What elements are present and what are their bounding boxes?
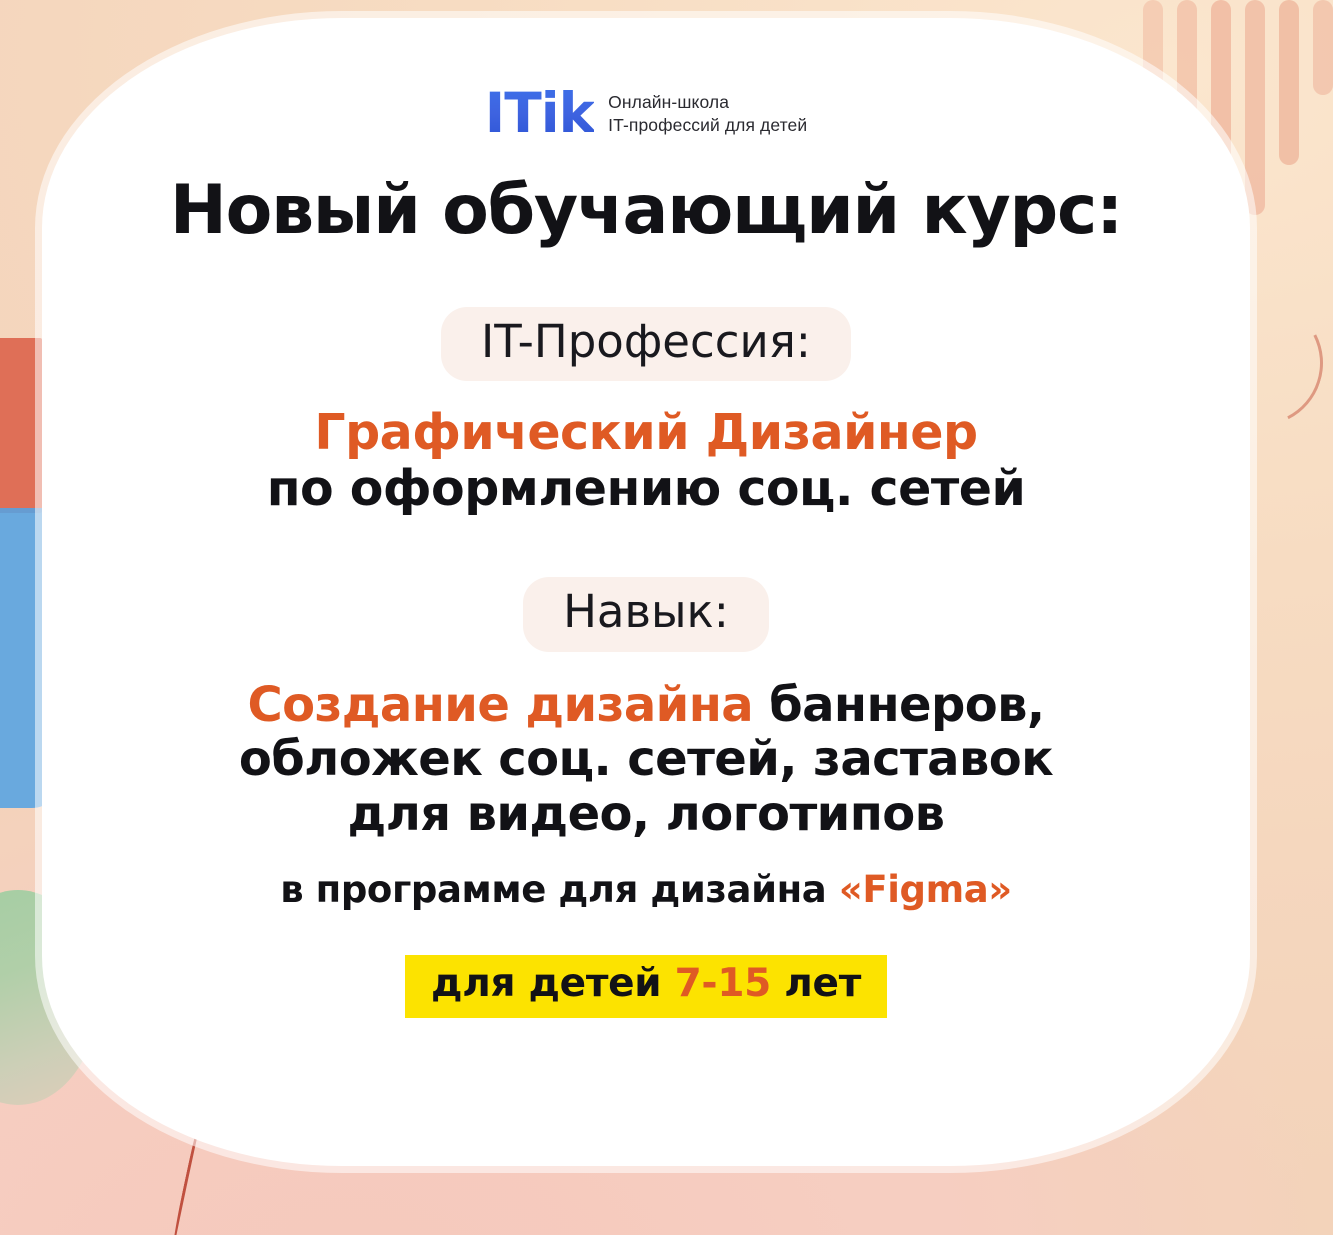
profession-title: Графический Дизайнер по оформлению соц. … — [267, 405, 1026, 517]
skill-accent: Создание дизайна — [247, 677, 753, 733]
age-badge-suffix: лет — [771, 961, 861, 1006]
waveform-bar — [1313, 0, 1333, 95]
brand-lockup: ITik Онлайн-школа IT-профессий для детей — [485, 86, 807, 141]
itik-logo: ITik — [485, 86, 594, 141]
profession-title-accent: Графический Дизайнер — [267, 405, 1026, 461]
age-badge: для детей 7-15 лет — [405, 955, 887, 1018]
skill-line-3: для видео, логотипов — [239, 787, 1053, 842]
decoration-red-block — [0, 338, 42, 513]
skill-description: Создание дизайна баннеров, обложек соц. … — [239, 678, 1053, 842]
program-name: «Figma» — [839, 868, 1012, 911]
skill-line-2: обложек соц. сетей, заставок — [239, 732, 1053, 787]
age-badge-prefix: для детей — [431, 961, 675, 1006]
program-line: в программе для дизайна «Figma» — [280, 868, 1012, 911]
waveform-bar — [1245, 0, 1265, 215]
promo-banner: ITik Онлайн-школа IT-профессий для детей… — [0, 0, 1333, 1235]
profession-pill-label: IT-Профессия: — [441, 307, 851, 381]
waveform-bar — [1279, 0, 1299, 165]
brand-tagline: Онлайн-школа IT-профессий для детей — [608, 91, 807, 136]
age-badge-range: 7-15 — [675, 961, 771, 1006]
program-prefix: в программе для дизайна — [280, 868, 839, 911]
page-title: Новый обучающий курс: — [170, 177, 1122, 245]
age-badge-wrapper: для детей 7-15 лет — [405, 955, 887, 1018]
skill-line-1-rest: баннеров, — [753, 677, 1044, 733]
skill-line-1: Создание дизайна баннеров, — [239, 678, 1053, 733]
brand-tagline-line-1: Онлайн-школа — [608, 91, 807, 113]
skill-pill-label: Навык: — [523, 577, 769, 651]
brand-tagline-line-2: IT-профессий для детей — [608, 114, 807, 136]
profession-title-rest: по оформлению соц. сетей — [267, 461, 1026, 517]
content-card: ITik Онлайн-школа IT-профессий для детей… — [42, 18, 1250, 1166]
